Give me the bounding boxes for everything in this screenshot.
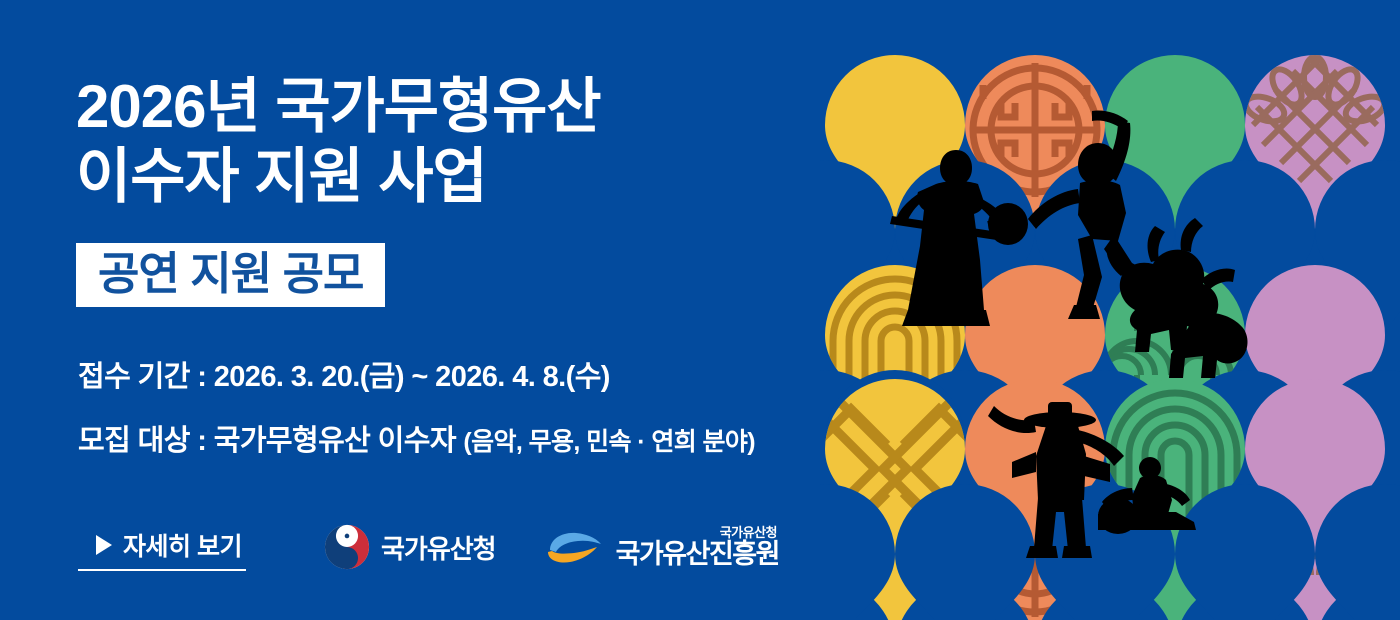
more-details-link-inner[interactable]: 자세히 보기 — [90, 527, 246, 569]
korean-scale-pattern — [820, 0, 1400, 620]
highlight-badge: 공연 지원 공모 — [76, 243, 385, 307]
banner-content: 2026년 국가무형유산 이수자 지원 사업 공연 지원 공모 접수 기간 : … — [0, 0, 820, 620]
page-title-line-2: 이수자 지원 사업 — [76, 146, 487, 208]
taegeuk-emblem-icon — [324, 524, 370, 570]
logo-korea-heritage-service-label: 국가유산청 — [381, 529, 496, 566]
logo-korea-heritage-service[interactable]: 국가유산청 — [324, 524, 496, 570]
eligibility-line: 모집 대상 : 국가무형유산 이수자 (음악, 무용, 민속 · 연희 분야) — [78, 417, 755, 459]
logo-korea-heritage-agency-superscript: 국가유산청 — [720, 526, 777, 539]
more-details-label: 자세히 보기 — [123, 527, 242, 563]
swoosh-emblem-icon — [544, 527, 606, 567]
eligibility-label: 모집 대상 : — [78, 425, 214, 457]
page-title-line-1: 2026년 국가무형유산 — [76, 76, 601, 138]
eligibility-categories: (음악, 무용, 민속 · 연희 분야) — [463, 428, 755, 456]
application-period-value: 2026. 3. 20.(금) ~ 2026. 4. 8.(수) — [214, 361, 610, 393]
play-triangle-icon — [96, 535, 112, 555]
more-details-underline — [78, 569, 246, 571]
eligibility-value: 국가무형유산 이수자 — [214, 425, 464, 457]
highlight-badge-label: 공연 지원 공모 — [98, 250, 363, 297]
application-period-line: 접수 기간 : 2026. 3. 20.(금) ~ 2026. 4. 8.(수) — [78, 353, 610, 395]
promo-banner: 2026년 국가무형유산 이수자 지원 사업 공연 지원 공모 접수 기간 : … — [0, 0, 1400, 620]
logo-korea-heritage-agency-text: 국가유산청 국가유산진흥원 — [616, 526, 779, 568]
logo-korea-heritage-agency[interactable]: 국가유산청 국가유산진흥원 — [544, 526, 779, 568]
banner-footer: 자세히 보기 국가유산청 — [78, 518, 779, 580]
logo-korea-heritage-agency-label: 국가유산진흥원 — [616, 541, 779, 568]
application-period-label: 접수 기간 : — [78, 361, 214, 393]
more-details-link[interactable]: 자세히 보기 — [78, 527, 246, 571]
